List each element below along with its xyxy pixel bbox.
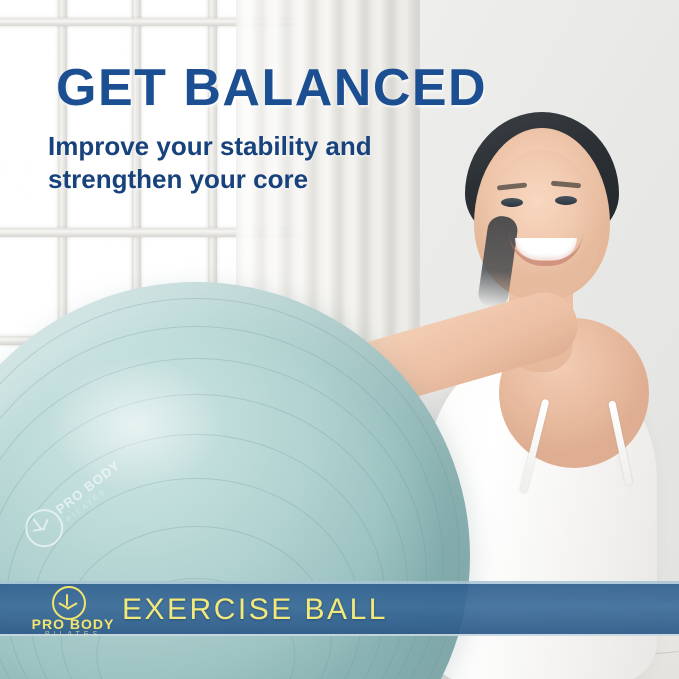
model-eye-right (555, 196, 577, 205)
brand-name: PRO BODY (18, 616, 128, 632)
page-subtitle-line-1: Improve your stability and (48, 130, 372, 163)
page-title: GET BALANCED (56, 62, 487, 114)
brand-logo-spoke (66, 594, 68, 606)
page-subtitle: Improve your stability and strengthen yo… (48, 130, 372, 195)
brand-logo: PRO BODY PILATES (18, 586, 128, 636)
product-marketing-image: PRO BODY PILATES GET BALANCED Improve yo… (0, 0, 679, 679)
brand-tagline: PILATES (18, 631, 128, 638)
model-eye-left (501, 198, 523, 207)
page-subtitle-line-2: strengthen your core (48, 163, 372, 196)
product-name-label: EXERCISE BALL (122, 588, 388, 632)
brand-circle-icon (52, 586, 86, 620)
